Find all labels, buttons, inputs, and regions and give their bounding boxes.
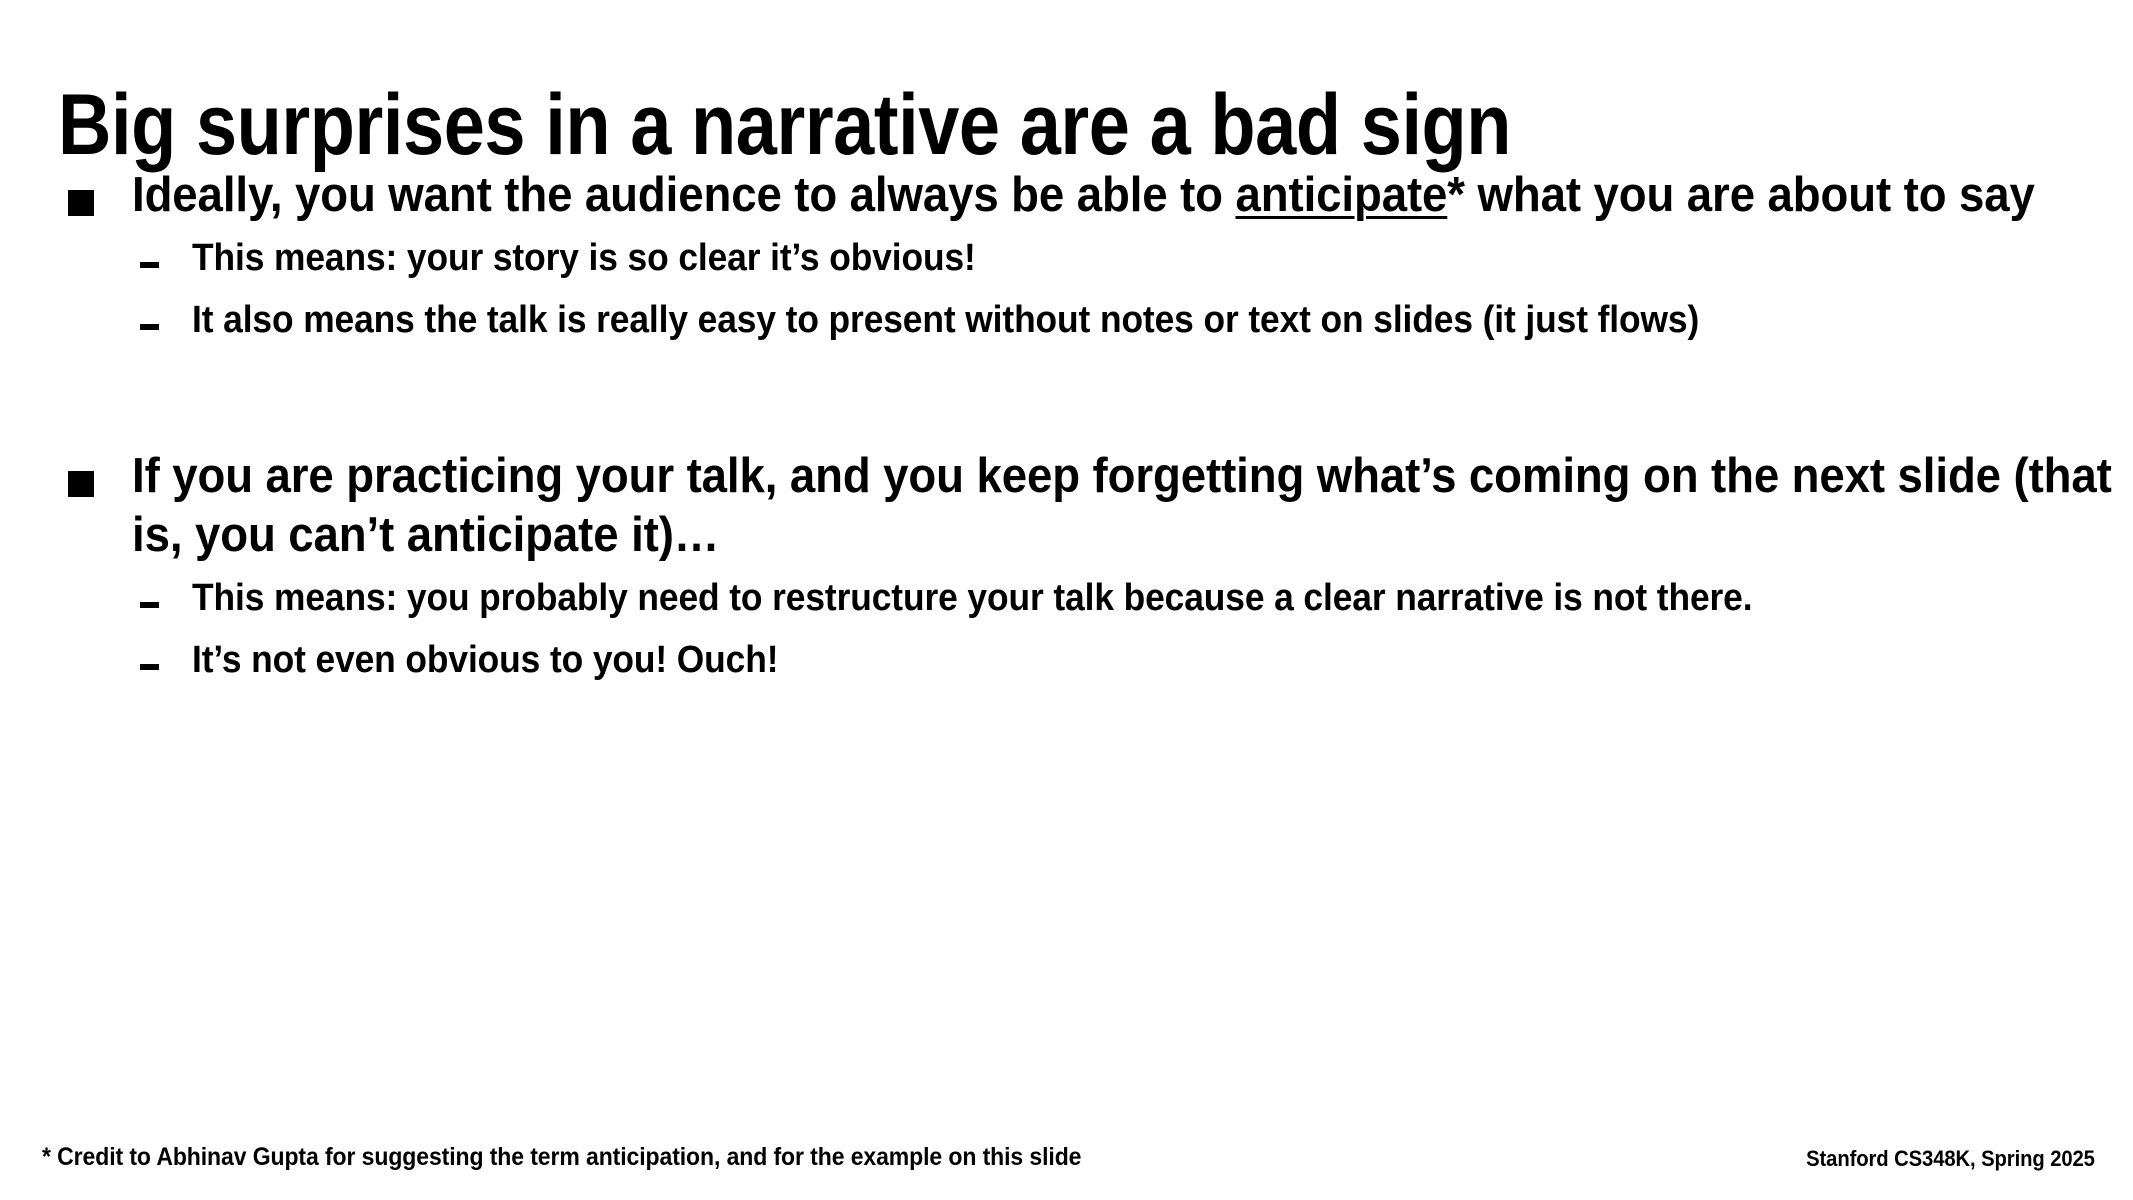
dash-bullet-icon [140,602,159,608]
bullet-group-spacer [0,359,2133,447]
sub-bullet-item-2-2-label: It’s not even obvious to you! Ouch! [192,638,2133,684]
page-title: Big surprises in a narrative are a bad s… [58,80,1511,170]
bullet-item-2: If you are practicing your talk, and you… [0,447,2133,564]
sub-bullet-item-2-2: It’s not even obvious to you! Ouch! [0,638,2133,684]
slide-footnote: * Credit to Abhinav Gupta for suggesting… [42,1143,1081,1172]
bullet-2-sub-list: This means: you probably need to restruc… [0,576,2133,683]
sub-bullet-item-1-2-label: It also means the talk is really easy to… [192,298,2133,344]
bullet-1-emphasis-anticipate: anticipate [1235,168,1447,222]
course-credit-label: Stanford CS348K, Spring 2025 [1806,1146,2095,1172]
square-bullet-icon [68,471,94,497]
slide-body: Ideally, you want the audience to always… [0,166,2133,699]
sub-bullet-item-1-1-label: This means: your story is so clear it’s … [192,236,2133,282]
sub-bullet-item-1-2: It also means the talk is really easy to… [0,298,2133,344]
square-bullet-icon [68,190,94,216]
bullet-1-sub-list: This means: your story is so clear it’s … [0,236,2133,343]
sub-bullet-item-2-1-label: This means: you probably need to restruc… [192,576,2133,622]
bullet-item-1: Ideally, you want the audience to always… [0,166,2133,224]
bullet-item-2-label: If you are practicing your talk, and you… [132,447,2132,564]
bullet-1-text-before: Ideally, you want the audience to always… [132,168,1235,222]
slide: Big surprises in a narrative are a bad s… [0,0,2133,1200]
sub-bullet-item-1-1: This means: your story is so clear it’s … [0,236,2133,282]
bullet-1-footnote-marker: * [1447,168,1465,222]
bullet-1-text-after: what you are about to say [1465,168,2035,222]
dash-bullet-icon [140,664,159,670]
sub-bullet-item-2-1: This means: you probably need to restruc… [0,576,2133,622]
dash-bullet-icon [140,262,159,268]
dash-bullet-icon [140,324,159,330]
bullet-item-1-label: Ideally, you want the audience to always… [132,166,2132,224]
